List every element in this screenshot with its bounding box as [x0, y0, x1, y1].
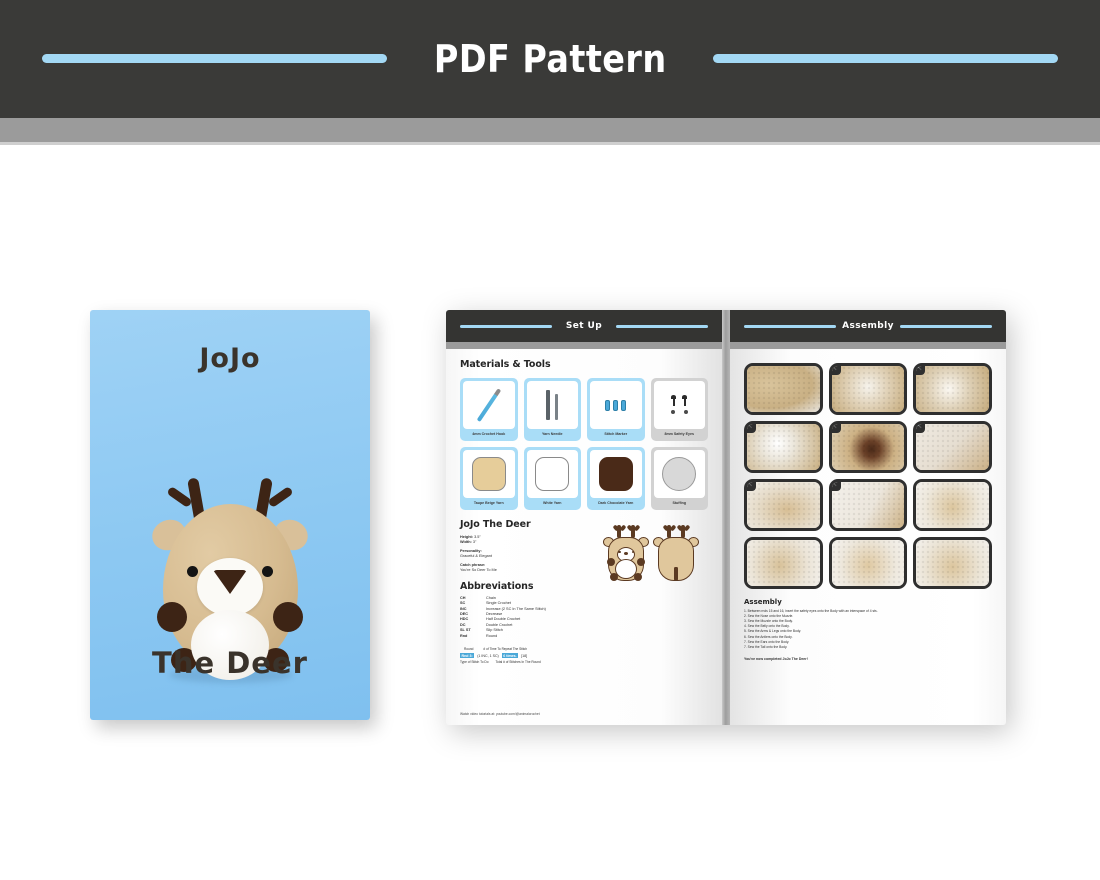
zoom-badge-icon: 🔍 — [913, 421, 925, 433]
yarn-swatch-beige-icon — [472, 457, 506, 491]
material-label: Yarn Needle — [527, 429, 579, 441]
material-card-chocolate-yarn[interactable]: Dark Chocolate Yarn — [587, 447, 645, 510]
catchphrase-label: Catch phrase: — [460, 563, 485, 567]
yarn-needle-icon — [546, 390, 558, 420]
material-card-marker[interactable]: Stitch Marker — [587, 378, 645, 441]
left-page-content: Materials & Tools 4mm Crochet Hook Yarn … — [446, 349, 722, 725]
pattern-cover[interactable]: JoJo The Deer — [90, 310, 370, 720]
legend-stitch-token: (1 INC, 1 SC) — [476, 653, 501, 658]
character-heading: JoJo The Deer — [460, 519, 589, 530]
legend-bottom-left: Type of Stitch To Do — [460, 660, 488, 664]
header-strip-edge — [0, 142, 1100, 145]
photo-belly-on-body[interactable]: 🔍 — [744, 421, 823, 473]
right-banner-rule-left — [744, 325, 836, 328]
material-card-hook[interactable]: 4mm Crochet Hook — [460, 378, 518, 441]
stuffing-icon — [662, 457, 696, 491]
catchphrase-value: You're So Deer To Me — [460, 568, 589, 574]
photo-finished-side[interactable] — [829, 537, 908, 589]
material-label: 4mm Crochet Hook — [463, 429, 515, 441]
cover-subtitle: The Deer — [90, 646, 370, 680]
deer-diagram-front — [603, 523, 649, 585]
book-page-right: Assembly 🔍 🔍 🔍 — [730, 310, 1006, 725]
photo-finished-angle[interactable] — [744, 537, 823, 589]
material-label: Taupe Beige Yarn — [463, 498, 515, 510]
page-title: PDF Pattern — [434, 37, 667, 81]
assembly-step: 7. Sew the Tail onto the Body. — [744, 645, 992, 650]
material-card-beige-yarn[interactable]: Taupe Beige Yarn — [460, 447, 518, 510]
zoom-badge-icon: 🔍 — [829, 363, 841, 375]
right-banner-title: Assembly — [842, 321, 894, 331]
photo-finished-back[interactable] — [913, 537, 992, 589]
zoom-badge-icon: 🔍 — [829, 479, 841, 491]
header-rule-left — [42, 54, 387, 63]
crochet-hook-icon — [477, 388, 501, 421]
material-card-safety-eyes[interactable]: 8mm Safety Eyes — [651, 378, 709, 441]
page-header: PDF Pattern — [0, 0, 1100, 118]
yarn-swatch-chocolate-icon — [599, 457, 633, 491]
zoom-badge-icon: 🔍 — [913, 363, 925, 375]
photo-nose-on-muzzle[interactable]: 🔍 — [829, 363, 908, 415]
left-banner-rule-left — [460, 325, 552, 328]
spec-label: Height: — [460, 535, 473, 539]
yarn-swatch-white-icon — [535, 457, 569, 491]
right-page-content: 🔍 🔍 🔍 🔍 🔍 — [730, 349, 1006, 725]
book-spine — [722, 310, 730, 725]
assembly-photo-grid: 🔍 🔍 🔍 🔍 🔍 — [744, 363, 992, 589]
book-page-left: Set Up Materials & Tools 4mm Crochet Hoo… — [446, 310, 722, 725]
spec-label: Width: — [460, 540, 472, 544]
character-info: JoJo The Deer Height: 3.5" Width: 3" Per… — [460, 519, 708, 639]
spec-value: 3.5" — [474, 535, 481, 539]
zoom-badge-icon: 🔍 — [829, 421, 841, 433]
material-label: Stuffing — [654, 498, 706, 510]
photo-eye-placement[interactable] — [744, 363, 823, 415]
legend-bottom-right: Total # of Stitches In The Round — [495, 660, 540, 664]
photo-tail-on-body[interactable]: 🔍 — [829, 479, 908, 531]
legend-total-token: [18] — [520, 653, 529, 658]
left-banner-rule-right — [616, 325, 708, 328]
right-page-strip — [730, 342, 1006, 349]
material-label: 8mm Safety Eyes — [654, 429, 706, 441]
left-page-footnote: Watch video tutorials at: youtube.com/@a… — [460, 712, 540, 716]
assembly-heading: Assembly — [744, 598, 992, 606]
material-label: White Yarn — [527, 498, 579, 510]
abbr-row: RndRound — [460, 634, 589, 639]
zoom-badge-icon: 🔍 — [744, 479, 756, 491]
photo-antlers-on-body[interactable]: 🔍 — [913, 421, 992, 473]
left-page-strip — [446, 342, 722, 349]
abbreviations-table: CHChain SCSingle Crochet INCIncrease (2 … — [460, 596, 589, 639]
material-card-stuffing[interactable]: Stuffing — [651, 447, 709, 510]
legend-top-right: # of Time To Repeat The Stitch — [483, 647, 527, 651]
header-rule-right — [713, 54, 1058, 63]
safety-eyes-icon — [671, 397, 688, 414]
zoom-badge-icon: 🔍 — [744, 421, 756, 433]
material-label: Dark Chocolate Yarn — [590, 498, 642, 510]
right-page-banner: Assembly — [730, 310, 1006, 342]
personality-label: Personality: — [460, 549, 482, 553]
abbr-value: Round — [486, 634, 497, 639]
cover-title: JoJo — [90, 343, 370, 374]
personality-value: Graceful & Elegant — [460, 554, 589, 560]
header-gray-strip — [0, 118, 1100, 142]
photo-muzzle-on-body[interactable]: 🔍 — [913, 363, 992, 415]
legend-repeat-token: 6 times. — [502, 653, 518, 658]
stitch-notation-legend: Round # of Time To Repeat The Stitch Rnd… — [460, 647, 708, 664]
material-card-needle[interactable]: Yarn Needle — [524, 378, 582, 441]
spec-value: 3" — [473, 540, 476, 544]
abbreviations-heading: Abbreviations — [460, 581, 589, 592]
legend-round-token: Rnd 3: — [460, 653, 474, 658]
assembly-steps: 1. Between rnds 15 and 16, insert the sa… — [744, 609, 992, 650]
right-banner-rule-right — [900, 325, 992, 328]
materials-heading: Materials & Tools — [460, 359, 708, 370]
photo-ears-on-body[interactable]: 🔍 — [744, 479, 823, 531]
photo-finished-front[interactable] — [913, 479, 992, 531]
completion-note: You've now completed JoJo The Deer! — [744, 657, 992, 661]
materials-grid: 4mm Crochet Hook Yarn Needle Stitch Mark… — [460, 378, 708, 510]
character-specs: Height: 3.5" Width: 3" Personality: Grac… — [460, 535, 589, 574]
material-label: Stitch Marker — [590, 429, 642, 441]
material-card-white-yarn[interactable]: White Yarn — [524, 447, 582, 510]
left-page-banner: Set Up — [446, 310, 722, 342]
photo-arms-legs-on-body[interactable]: 🔍 — [829, 421, 908, 473]
legend-top-left: Round — [464, 647, 473, 651]
left-banner-title: Set Up — [566, 321, 602, 331]
abbr-key: Rnd — [460, 634, 486, 639]
deer-diagram-back — [653, 523, 699, 585]
stitch-marker-icon — [605, 400, 626, 411]
open-book-preview[interactable]: Set Up Materials & Tools 4mm Crochet Hoo… — [446, 310, 1006, 725]
